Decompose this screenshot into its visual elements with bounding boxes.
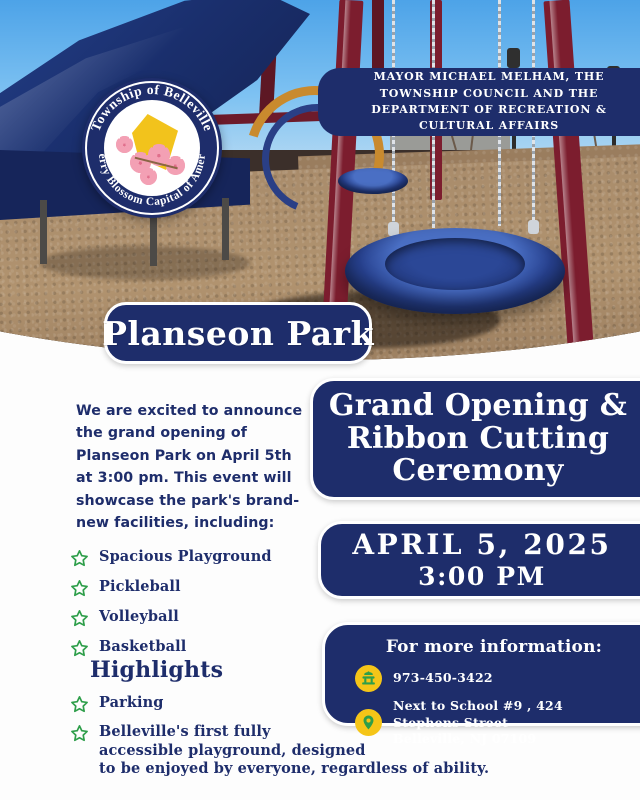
officials-banner: MAYOR MICHAEL MELHAM, THE TOWNSHIP COUNC… [318, 68, 640, 136]
small-swing-seat [338, 168, 408, 194]
star-outline-icon [70, 609, 89, 628]
list-item-label: Belleville's first fully accessible play… [99, 723, 489, 779]
seal-top-text: Township of Belleville [88, 82, 217, 133]
deck-leg-1 [40, 200, 47, 264]
list-item: Spacious Playground [70, 548, 370, 568]
deck-leg-3 [222, 198, 229, 260]
event-title-line-3: Ceremony [329, 455, 627, 487]
list-item-label: Spacious Playground [99, 548, 272, 567]
event-title-line-2: Ribbon Cutting [329, 423, 627, 455]
list-item-label: Parking [99, 694, 163, 713]
structure-shadow [40, 246, 250, 280]
blue-disc-swing-inner [385, 238, 525, 290]
star-outline-icon [70, 639, 89, 658]
highlights-heading: Highlights [90, 657, 223, 683]
lamp-head-1 [507, 48, 520, 68]
contact-phone-number[interactable]: 973-450-3422 [393, 670, 493, 687]
list-item: Belleville's first fully accessible play… [70, 723, 550, 779]
swing-clip-right [528, 220, 539, 234]
star-outline-icon [70, 695, 89, 714]
list-item-label: Pickleball [99, 578, 181, 597]
star-outline-icon [70, 724, 89, 743]
telephone-icon [355, 665, 382, 692]
list-item: Parking [70, 694, 550, 714]
event-title-text: Grand Opening & Ribbon Cutting Ceremony [329, 390, 627, 487]
intro-paragraph: We are excited to announce the grand ope… [76, 400, 306, 535]
list-item-label: Basketball [99, 638, 186, 657]
park-name-banner: Planseon Park [104, 302, 372, 364]
star-outline-icon [70, 549, 89, 568]
highlights-list: Parking Belleville's first fully accessi… [70, 694, 550, 788]
contact-info-title: For more information: [357, 637, 631, 657]
list-item-label: Volleyball [99, 608, 179, 627]
event-title-line-1: Grand Opening & [329, 390, 627, 422]
event-date: APRIL 5, 2025 [352, 529, 611, 561]
list-item: Pickleball [70, 578, 370, 598]
flyer-canvas: Township of Belleville Cherry Blossom Ca… [0, 0, 640, 800]
contact-phone-row[interactable]: 973-450-3422 [355, 665, 631, 692]
list-item: Basketball [70, 638, 370, 658]
seal-text-ring: Township of Belleville Cherry Blossom Ca… [82, 78, 222, 218]
township-seal: Township of Belleville Cherry Blossom Ca… [82, 78, 222, 218]
event-time: 3:00 PM [418, 562, 546, 591]
officials-banner-text: MAYOR MICHAEL MELHAM, THE TOWNSHIP COUNC… [344, 69, 634, 134]
event-title-banner: Grand Opening & Ribbon Cutting Ceremony [310, 378, 640, 500]
page-title: Planseon Park [102, 314, 374, 353]
list-item: Volleyball [70, 608, 370, 628]
star-outline-icon [70, 579, 89, 598]
facilities-list: Spacious Playground Pickleball Volleybal… [70, 548, 370, 668]
